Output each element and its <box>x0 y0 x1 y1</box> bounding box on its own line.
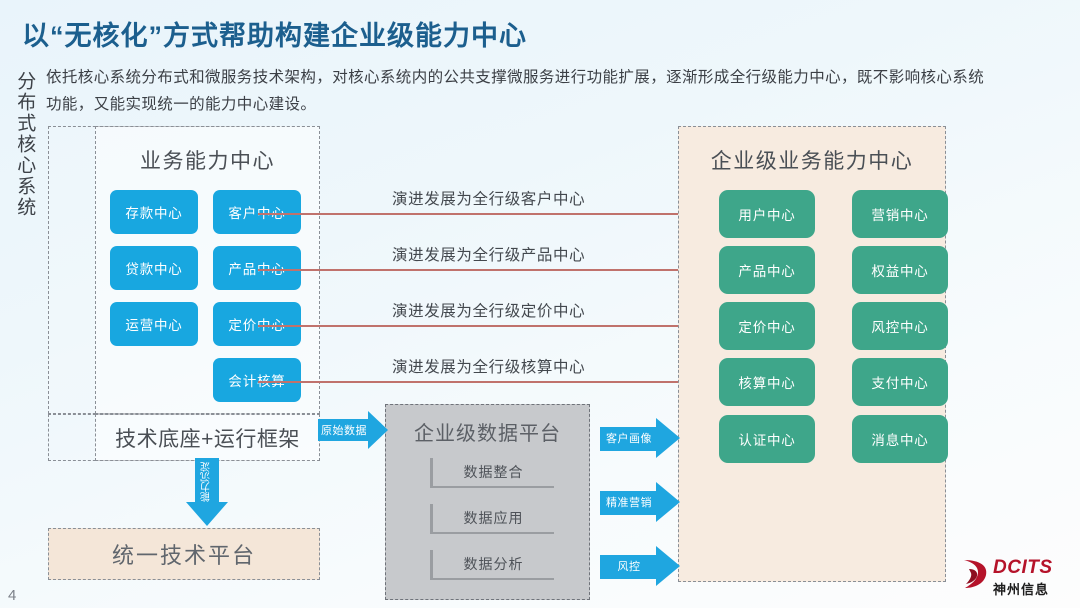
chip-ent-accounting-center[interactable]: 核算中心 <box>719 358 815 406</box>
business-capability-panel-title: 业务能力中心 <box>96 145 319 175</box>
unified-platform-box: 统一技术平台 <box>48 528 320 580</box>
dcits-swoosh-icon <box>960 558 990 590</box>
capability-precipitation-arrow-label: 能力沉淀 <box>186 458 228 506</box>
company-logo: DCITS 神州信息 <box>960 554 1068 598</box>
logo-brand-cn: 神州信息 <box>993 579 1049 598</box>
evolution-arrow-4 <box>258 381 740 383</box>
chip-customer-center[interactable]: 客户中心 <box>213 190 301 234</box>
evolution-arrow-line-2 <box>258 269 740 271</box>
chip-accounting[interactable]: 会计核算 <box>213 358 301 402</box>
chip-operation-center[interactable]: 运营中心 <box>110 302 198 346</box>
output-arrow-customer-profile: 客户画像 <box>600 418 680 458</box>
chip-ent-pricing-center[interactable]: 定价中心 <box>719 302 815 350</box>
chip-product-center[interactable]: 产品中心 <box>213 246 301 290</box>
chip-risk-center[interactable]: 风控中心 <box>852 302 948 350</box>
output-arrow-tip-1 <box>656 418 680 458</box>
chip-auth-center[interactable]: 认证中心 <box>719 415 815 463</box>
data-platform-box: 企业级数据平台 数据整合 数据应用 数据分析 <box>385 404 590 600</box>
chip-ent-product-center[interactable]: 产品中心 <box>719 246 815 294</box>
evolution-arrow-2 <box>258 269 740 271</box>
chip-deposit-center[interactable]: 存款中心 <box>110 190 198 234</box>
enterprise-capability-panel-title: 企业级业务能力中心 <box>679 145 945 175</box>
chip-loan-center[interactable]: 贷款中心 <box>110 246 198 290</box>
slide-root: 以“无核化”方式帮助构建企业级能力中心 依托核心系统分布式和微服务技术架构，对核… <box>0 0 1080 608</box>
chip-message-center[interactable]: 消息中心 <box>852 415 948 463</box>
page-subtitle: 依托核心系统分布式和微服务技术架构，对核心系统内的公共支撑微服务进行功能扩展，逐… <box>46 64 986 118</box>
data-platform-title: 企业级数据平台 <box>386 417 589 446</box>
evolution-label-3: 演进发展为全行级定价中心 <box>392 299 585 321</box>
chip-user-center[interactable]: 用户中心 <box>719 190 815 238</box>
output-arrow-tip-3 <box>656 546 680 586</box>
data-platform-item-integration[interactable]: 数据整合 <box>430 458 554 488</box>
distributed-core-label-text: 分布式核心系统 <box>13 71 35 218</box>
data-platform-item-application[interactable]: 数据应用 <box>430 504 554 534</box>
evolution-arrow-3 <box>258 325 740 327</box>
chip-payment-center[interactable]: 支付中心 <box>852 358 948 406</box>
unified-platform-label: 统一技术平台 <box>49 529 319 579</box>
output-arrow-label-3: 风控 <box>600 546 658 586</box>
raw-data-arrow-label: 原始数据 <box>318 411 370 449</box>
capability-precipitation-arrow: 能力沉淀 <box>186 458 228 526</box>
page-number: 4 <box>8 587 16 604</box>
output-arrow-precision-marketing: 精准营销 <box>600 482 680 522</box>
data-platform-item-analysis[interactable]: 数据分析 <box>430 550 554 580</box>
chip-pricing-center[interactable]: 定价中心 <box>213 302 301 346</box>
raw-data-arrow-tip <box>368 411 388 449</box>
output-arrow-label-2: 精准营销 <box>600 482 658 522</box>
chip-marketing-center[interactable]: 营销中心 <box>852 190 948 238</box>
tech-base-label: 技术底座+运行框架 <box>96 415 319 460</box>
evolution-label-1: 演进发展为全行级客户中心 <box>392 187 585 209</box>
evolution-arrow-line-3 <box>258 325 740 327</box>
evolution-arrow-line-1 <box>258 213 740 215</box>
tech-base-box: 技术底座+运行框架 <box>95 414 320 461</box>
output-arrow-tip-2 <box>656 482 680 522</box>
evolution-arrow-line-4 <box>258 381 740 383</box>
chip-rights-center[interactable]: 权益中心 <box>852 246 948 294</box>
page-title: 以“无核化”方式帮助构建企业级能力中心 <box>22 14 527 53</box>
output-arrow-label-1: 客户画像 <box>600 418 658 458</box>
output-arrow-risk-control: 风控 <box>600 546 680 586</box>
evolution-label-4: 演进发展为全行级核算中心 <box>392 355 585 377</box>
evolution-label-2: 演进发展为全行级产品中心 <box>392 243 585 265</box>
raw-data-arrow: 原始数据 <box>318 411 388 449</box>
logo-brand-en: DCITS <box>993 557 1053 579</box>
evolution-arrow-1 <box>258 213 740 215</box>
